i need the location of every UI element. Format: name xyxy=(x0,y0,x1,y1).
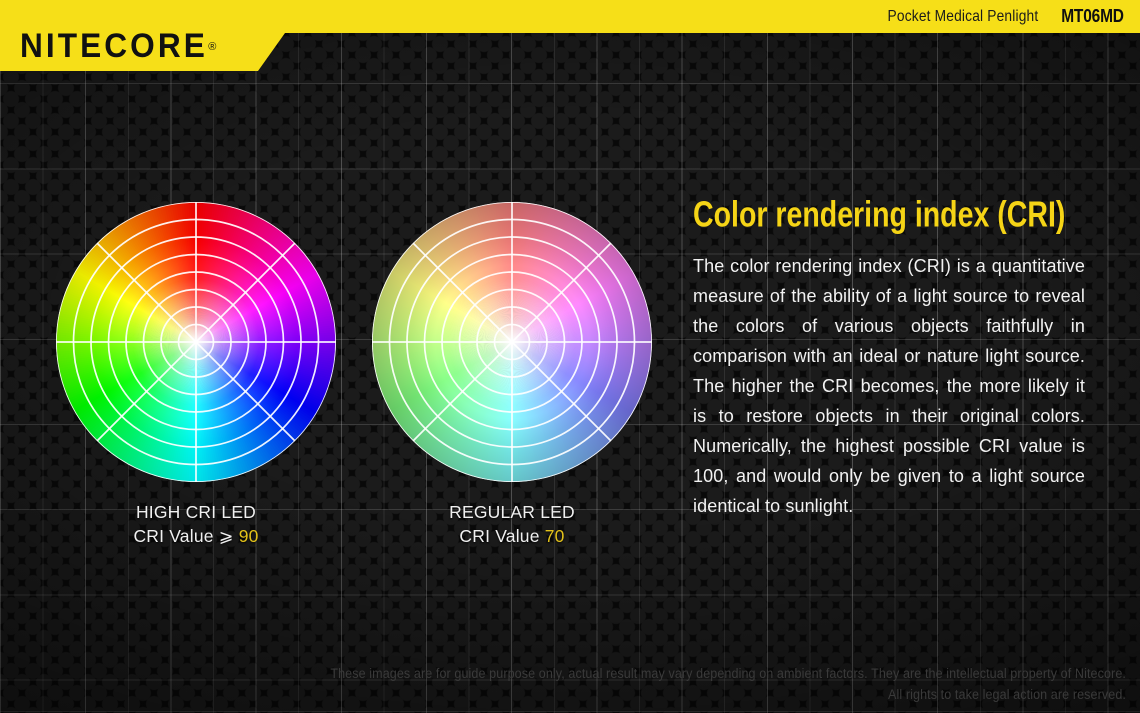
regular-led-value-prefix: CRI Value xyxy=(459,526,539,546)
high-cri-wheel xyxy=(56,202,336,482)
cri-infographic-page: Pocket Medical Penlight MT06MD NITECORE … xyxy=(0,0,1140,713)
cri-description-text: The color rendering index (CRI) is a qua… xyxy=(693,251,1085,521)
high-cri-value: 90 xyxy=(239,526,259,546)
high-cri-label: HIGH CRI LED xyxy=(36,500,356,524)
footer-disclaimer-line-1: These images are for guide purpose only,… xyxy=(79,663,1126,684)
footer-disclaimer-line-2: All rights to take legal action are rese… xyxy=(79,684,1126,705)
high-cri-value-line: CRI Value ⩾ 90 xyxy=(36,524,356,548)
regular-led-value-line: CRI Value 70 xyxy=(352,524,672,548)
regular-led-wheel-graphic xyxy=(372,202,652,482)
cri-description-panel: Color rendering index (CRI) The color re… xyxy=(693,196,1085,521)
header-product-info: Pocket Medical Penlight MT06MD xyxy=(863,0,1124,33)
legal-footer: These images are for guide purpose only,… xyxy=(0,663,1126,705)
product-model: MT06MD xyxy=(1061,6,1124,27)
regular-led-caption: REGULAR LED CRI Value 70 xyxy=(352,500,672,548)
high-cri-value-prefix: CRI Value ⩾ xyxy=(133,526,233,546)
regular-led-wheel xyxy=(372,202,652,482)
high-cri-caption: HIGH CRI LED CRI Value ⩾ 90 xyxy=(36,500,356,548)
product-subtitle: Pocket Medical Penlight xyxy=(887,8,1038,26)
high-cri-wheel-graphic xyxy=(56,202,336,482)
page-title: Color rendering index (CRI) xyxy=(693,196,1054,234)
regular-led-value: 70 xyxy=(545,526,565,546)
regular-led-label: REGULAR LED xyxy=(352,500,672,524)
brand-logo: NITECORE ® xyxy=(20,28,216,59)
registered-trademark-icon: ® xyxy=(208,42,216,53)
brand-logo-text: NITECORE xyxy=(20,28,208,63)
